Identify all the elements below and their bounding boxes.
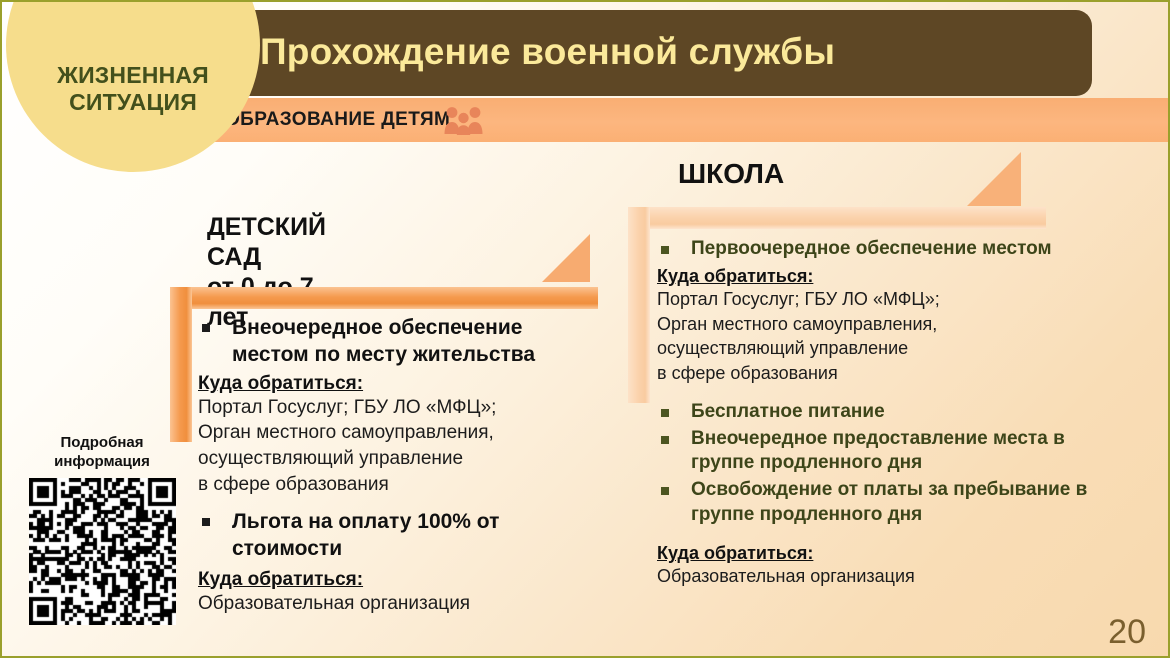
benefit-list-primary: Внеочередное обеспечение местом по месту… [198,314,598,369]
qr-caption: Подробная информация [22,434,182,472]
page-title: Прохождение военной службы [260,31,835,73]
benefit-list-primary: Первоочередное обеспечение местом [657,237,1107,262]
bracket-top-right [628,207,1046,229]
list-item: Бесплатное питание [657,400,1107,425]
column-school-heading: ШКОЛА [678,157,784,191]
bracket-side-left [170,287,192,442]
benefit-list-secondary: Бесплатное питание Внеочередное предоста… [657,400,1107,527]
corner-triangle-decoration-left [542,234,590,282]
corner-triangle-decoration-right [967,152,1021,206]
where-to-apply-body-2: Образовательная организация [198,591,598,617]
where-to-apply-label-2: Куда обратиться: [657,543,1107,564]
family-icon [443,105,485,135]
list-item: Освобождение от платы за пребывание в гр… [657,478,1107,527]
where-to-apply-body-1: Портал Госуслуг; ГБУ ЛО «МФЦ»; Орган мес… [657,287,1107,386]
bracket-top-left [170,287,598,309]
benefit-list-secondary: Льгота на оплату 100% от стоимости [198,508,598,563]
section-banner: ОБРАЗОВАНИЕ ДЕТЯМ [198,98,1170,142]
page-number: 20 [1108,613,1146,652]
bracket-side-right [628,207,650,403]
list-item: Льгота на оплату 100% от стоимости [198,508,598,563]
slide-title-bar: Прохождение военной службы [198,10,1092,96]
where-to-apply-body-2: Образовательная организация [657,564,1107,589]
life-situation-badge: ЖИЗНЕННАЯ СИТУАЦИЯ [6,0,260,172]
column-kindergarten-body: Внеочередное обеспечение местом по месту… [198,314,598,616]
presentation-slide: Прохождение военной службы ОБРАЗОВАНИЕ Д… [0,0,1170,658]
list-item: Внеочередное предоставление места в груп… [657,427,1107,476]
where-to-apply-label-1: Куда обратиться: [198,373,598,395]
where-to-apply-label-1: Куда обратиться: [657,266,1107,287]
column-school-body: Первоочередное обеспечение местом Куда о… [657,237,1107,589]
life-situation-label: ЖИЗНЕННАЯ СИТУАЦИЯ [6,62,260,116]
where-to-apply-body-1: Портал Госуслуг; ГБУ ЛО «МФЦ»; Орган мес… [198,395,598,498]
qr-code-icon[interactable] [29,478,176,625]
list-item: Первоочередное обеспечение местом [657,237,1107,262]
where-to-apply-label-2: Куда обратиться: [198,569,598,591]
list-item: Внеочередное обеспечение местом по месту… [198,314,598,369]
qr-block: Подробная информация [22,434,182,625]
